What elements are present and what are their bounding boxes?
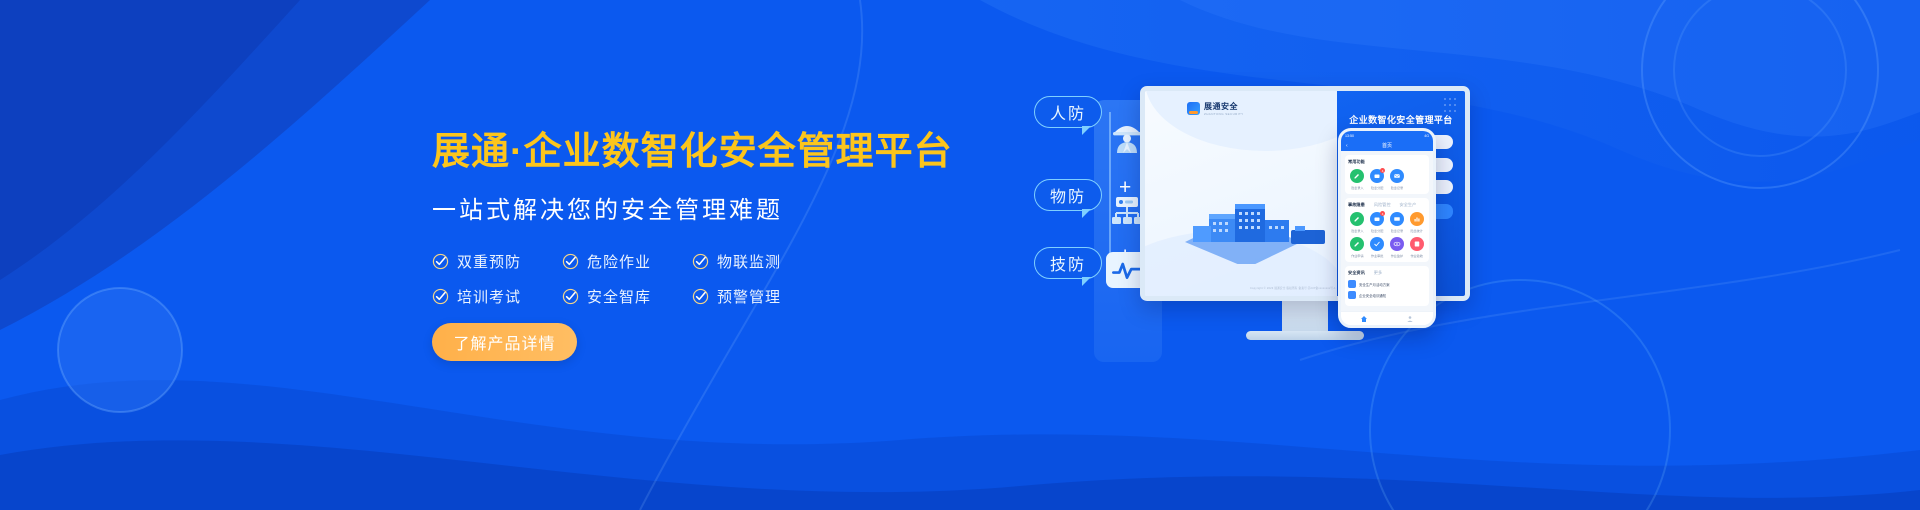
grid-item[interactable]: 隐患记录 [1388, 169, 1407, 190]
pillar-badge-jifang[interactable]: 技防 [1034, 247, 1102, 279]
chevron-left-icon[interactable]: ‹ [1346, 143, 1348, 149]
login-heading: 企业数智化安全管理平台 [1349, 113, 1453, 126]
watch-icon [1390, 237, 1404, 251]
phone-status-bar: 13:50 4G [1341, 131, 1433, 140]
section-tab[interactable]: 安全生产 [1400, 202, 1417, 208]
section-heading: 事故隐患 风险管控 安全生产 [1348, 202, 1426, 208]
list-item[interactable]: 企业安全培训通知 [1348, 291, 1426, 299]
section-title: 安全资讯 [1348, 270, 1365, 276]
feature-item: 安全智库 [562, 286, 692, 307]
pillar-badge-wufang[interactable]: 物防 [1034, 179, 1102, 211]
tab-home[interactable] [1341, 312, 1387, 325]
icon-grid: 隐患录入 4 隐患分配 [1348, 169, 1426, 190]
grid-label: 隐患分配 [1371, 228, 1383, 233]
thumbnail-icon [1348, 280, 1356, 288]
feature-label: 危险作业 [587, 251, 651, 272]
assign-icon: 4 [1370, 169, 1384, 183]
mail-icon [1390, 212, 1404, 226]
notification-badge: 4 [1380, 211, 1385, 216]
phone-body: 常用功能 隐患录入 4 [1341, 151, 1433, 321]
edit-icon [1350, 212, 1364, 226]
icon-grid: 隐患录入 4 隐患分配 [1348, 212, 1426, 258]
section-heading: 安全资讯 更多 [1348, 270, 1426, 276]
user-icon [1406, 315, 1414, 323]
thumbnail-icon [1348, 291, 1356, 299]
grid-label: 隐患记录 [1391, 185, 1403, 190]
apply-icon [1350, 237, 1364, 251]
more-link[interactable]: 更多 [1374, 270, 1382, 276]
notification-badge: 4 [1380, 168, 1385, 173]
grid-item[interactable]: 隐患录入 [1348, 169, 1367, 190]
grid-label: 作业监护 [1391, 253, 1403, 258]
feature-label: 双重预防 [457, 251, 521, 272]
status-time: 13:50 [1345, 134, 1354, 138]
assign-icon: 4 [1370, 212, 1384, 226]
feature-label: 培训考试 [457, 286, 521, 307]
phone-news-list: 安全资讯 更多 安全生产月活动方案 企业安全培训通知 [1345, 266, 1429, 306]
logo-subtext: ZHANTONG SECURITY [1204, 112, 1244, 116]
tab-profile[interactable] [1387, 312, 1433, 325]
check-circle-icon [692, 253, 709, 270]
app-logo: 展通安全 ZHANTONG SECURITY [1187, 101, 1244, 116]
grid-label: 隐患录入 [1351, 228, 1363, 233]
feature-item: 危险作业 [562, 251, 692, 272]
grid-item[interactable]: 作业审批 [1368, 237, 1387, 258]
phone-header: ‹ 首页 [1341, 140, 1433, 151]
feature-item: 双重预防 [432, 251, 562, 272]
feature-label: 预警管理 [717, 286, 781, 307]
grid-label: 作业审批 [1371, 253, 1383, 258]
check-circle-icon [562, 253, 579, 270]
grid-item[interactable]: 4 隐患分配 [1368, 212, 1387, 233]
edit-icon [1350, 169, 1364, 183]
grid-item[interactable]: 隐患录入 [1348, 212, 1367, 233]
check-circle-icon [432, 288, 449, 305]
section-title: 常用功能 [1348, 159, 1365, 165]
grid-label: 隐患记录 [1391, 228, 1403, 233]
pillar-badge-renfang[interactable]: 人防 [1034, 96, 1102, 128]
accept-icon [1410, 237, 1424, 251]
page-title: 展通·企业数智化安全管理平台 [432, 132, 1052, 174]
grid-label: 隐患分配 [1371, 185, 1383, 190]
list-item-title: 安全生产月活动方案 [1359, 282, 1390, 287]
section-heading: 常用功能 [1348, 159, 1426, 165]
feature-row: 双重预防 危险作业 物联监测 [432, 251, 822, 272]
feature-row: 培训考试 安全智库 预警管理 [432, 286, 822, 307]
mail-icon [1390, 169, 1404, 183]
check-circle-icon [432, 253, 449, 270]
logo-mark-icon [1187, 102, 1200, 115]
grid-item[interactable]: 4 隐患分配 [1368, 169, 1387, 190]
grid-item[interactable]: 作业监护 [1388, 237, 1407, 258]
chart-icon [1410, 212, 1424, 226]
feature-item: 培训考试 [432, 286, 562, 307]
page-subtitle: 一站式解决您的安全管理难题 [432, 190, 1052, 225]
section-tab[interactable]: 风险管控 [1374, 202, 1391, 208]
list-item[interactable]: 安全生产月活动方案 [1348, 280, 1426, 288]
decorative-dots [1443, 97, 1459, 123]
monitor-stand [1282, 301, 1328, 331]
status-signal: 4G [1424, 134, 1429, 138]
grid-item[interactable]: 作业申请 [1348, 237, 1367, 258]
check-circle-icon [692, 288, 709, 305]
monitor-base [1246, 331, 1364, 340]
grid-label: 隐患统计 [1410, 228, 1422, 233]
list-item-title: 企业安全培训通知 [1359, 293, 1386, 298]
section-title: 事故隐患 [1348, 202, 1365, 208]
grid-label: 隐患录入 [1351, 185, 1363, 190]
city-illustration [1173, 186, 1353, 264]
grid-label: 作业验收 [1410, 253, 1422, 258]
feature-item: 预警管理 [692, 286, 822, 307]
grid-label: 作业申请 [1351, 253, 1363, 258]
product-illustration: 人防 物防 技防 + + [1020, 0, 1920, 510]
logo-text: 展通安全 [1204, 101, 1244, 112]
grid-item[interactable]: 作业验收 [1407, 237, 1426, 258]
hero-banner: 展通·企业数智化安全管理平台 一站式解决您的安全管理难题 双重预防 危险作业 [0, 0, 1920, 510]
phone-section-common: 常用功能 隐患录入 4 [1345, 155, 1429, 194]
approve-icon [1370, 237, 1384, 251]
mobile-phone-mockup: 13:50 4G ‹ 首页 常用功能 [1338, 128, 1436, 328]
feature-list: 双重预防 危险作业 物联监测 [432, 251, 822, 307]
feature-label: 物联监测 [717, 251, 781, 272]
phone-section-hazard: 事故隐患 风险管控 安全生产 隐患录入 [1345, 198, 1429, 262]
phone-tabbar [1341, 311, 1433, 325]
phone-header-title: 首页 [1382, 142, 1392, 149]
hero-copy: 展通·企业数智化安全管理平台 一站式解决您的安全管理难题 双重预防 危险作业 [432, 132, 1052, 361]
grid-item[interactable]: 隐患记录 [1388, 212, 1407, 233]
feature-label: 安全智库 [587, 286, 651, 307]
home-icon [1360, 315, 1368, 323]
check-circle-icon [562, 288, 579, 305]
grid-item[interactable]: 隐患统计 [1407, 212, 1426, 233]
learn-more-button[interactable]: 了解产品详情 [432, 323, 577, 361]
feature-item: 物联监测 [692, 251, 822, 272]
